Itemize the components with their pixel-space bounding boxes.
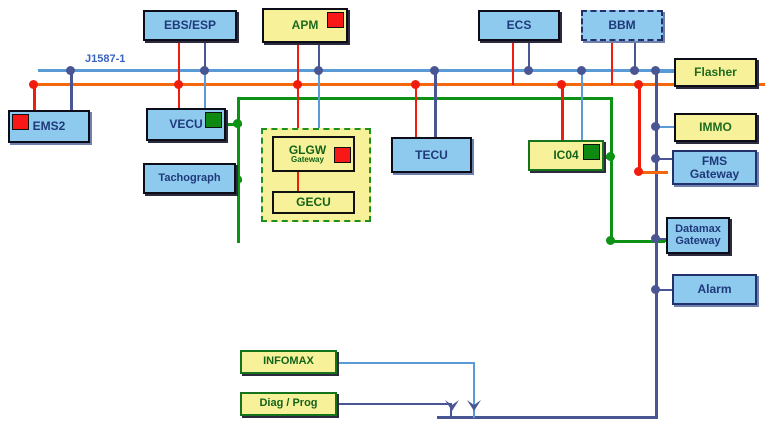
node-label-line1: FMS — [702, 155, 727, 168]
junction-dot-green-datamax — [606, 236, 615, 245]
wire-vecu-blue — [204, 70, 206, 111]
junction-dot-spine-immo — [651, 122, 660, 131]
node-gecu[interactable]: GECU — [272, 191, 355, 214]
bus-green-right-riser — [610, 97, 613, 241]
junction-dot-blue-bus — [314, 66, 323, 75]
node-label-line2: Gateway — [690, 168, 739, 181]
node-infomax[interactable]: INFOMAX — [240, 350, 337, 374]
node-label-line1: Datamax — [675, 224, 721, 236]
wire-tecu-red — [415, 83, 417, 138]
arrow-down-icon-diag — [443, 398, 461, 414]
junction-dot-blue-bus — [577, 66, 586, 75]
junction-dot-blue-bus — [66, 66, 75, 75]
node-label: IC04 — [553, 149, 578, 162]
wire-ic04-blue — [581, 70, 583, 141]
node-vecu[interactable]: VECU — [146, 108, 226, 141]
node-bbm[interactable]: BBM — [581, 10, 663, 41]
junction-dot-orange-bus — [174, 80, 183, 89]
node-tecu[interactable]: TECU — [391, 137, 472, 173]
red-chip-icon — [327, 12, 344, 28]
junction-dot-spine-fms — [651, 154, 660, 163]
wire-apm-red — [297, 42, 299, 85]
node-tachograph[interactable]: Tachograph — [143, 163, 236, 194]
node-alarm[interactable]: Alarm — [672, 274, 757, 305]
junction-dot-orange-bus — [293, 80, 302, 89]
red-chip-icon — [12, 114, 29, 130]
right-navy-bottom — [437, 416, 658, 419]
node-diag-prog[interactable]: Diag / Prog — [240, 392, 337, 416]
junction-dot-spine-datamax — [651, 234, 660, 243]
junction-dot-blue-bus — [651, 66, 660, 75]
node-label: IMMO — [699, 121, 732, 134]
node-label: TECU — [415, 149, 448, 162]
junction-dot-fms-elbow — [634, 167, 643, 176]
node-fms-gateway[interactable]: FMS Gateway — [672, 150, 757, 185]
red-chip-icon — [334, 147, 351, 163]
node-sublabel: Gateway — [291, 156, 324, 164]
node-label: EBS/ESP — [164, 19, 216, 32]
bus-line-green — [237, 97, 612, 100]
junction-dot-green-ic04 — [606, 152, 615, 161]
node-apm[interactable]: APM — [262, 8, 348, 43]
bus-label-j1587: J1587-1 — [85, 53, 125, 65]
junction-dot-blue-bus — [630, 66, 639, 75]
node-label: APM — [292, 19, 319, 32]
junction-dot-blue-bus — [430, 66, 439, 75]
node-label: Tachograph — [158, 173, 220, 185]
node-label: VECU — [169, 118, 202, 131]
node-flasher[interactable]: Flasher — [674, 58, 757, 87]
node-label-line2: Gateway — [675, 236, 720, 248]
node-ebs-esp[interactable]: EBS/ESP — [143, 10, 237, 41]
node-label: Flasher — [694, 66, 737, 79]
node-ecs[interactable]: ECS — [478, 10, 560, 41]
node-label: Alarm — [697, 283, 731, 296]
node-ems2[interactable]: EMS2 — [8, 110, 90, 143]
node-label: EMS2 — [33, 120, 66, 133]
green-chip-icon — [205, 112, 222, 128]
wire-ems2-navy — [70, 70, 73, 113]
node-label: Diag / Prog — [259, 398, 317, 410]
arrow-down-icon-infomax — [465, 398, 483, 414]
wire-bbm-red — [611, 42, 613, 85]
junction-dot-orange-bus — [411, 80, 420, 89]
junction-dot-green-vecu — [233, 119, 242, 128]
junction-dot-orange-bus — [634, 80, 643, 89]
junction-dot-orange-bus — [557, 80, 566, 89]
node-ic04[interactable]: IC04 — [528, 140, 604, 171]
wire-infomax-h — [337, 362, 475, 364]
junction-dot-blue-bus — [200, 66, 209, 75]
junction-dot-blue-bus — [524, 66, 533, 75]
node-immo[interactable]: IMMO — [674, 113, 757, 142]
wire-ic04-red — [561, 83, 564, 141]
junction-dot-orange-bus — [29, 80, 38, 89]
green-chip-icon — [583, 144, 600, 160]
node-label: BBM — [608, 19, 635, 32]
wire-ecs-red — [512, 40, 514, 85]
node-label: INFOMAX — [263, 356, 314, 368]
node-label: GECU — [296, 196, 331, 209]
network-diagram-canvas: J1587-1 — [0, 0, 765, 443]
wire-glgw-gecu — [297, 172, 299, 192]
node-datamax-gateway[interactable]: Datamax Gateway — [666, 217, 730, 254]
wire-glgw-red — [297, 83, 299, 131]
node-label: ECS — [507, 19, 532, 32]
wire-diagprog-h — [337, 403, 452, 405]
wire-ebsesp-red — [178, 40, 180, 85]
wire-glgw-blue — [318, 70, 320, 131]
node-glgw[interactable]: GLGW Gateway — [272, 136, 355, 172]
wire-fms-red-riser — [638, 83, 641, 173]
wire-tecu-navy — [434, 70, 437, 140]
junction-dot-spine-alarm — [651, 285, 660, 294]
